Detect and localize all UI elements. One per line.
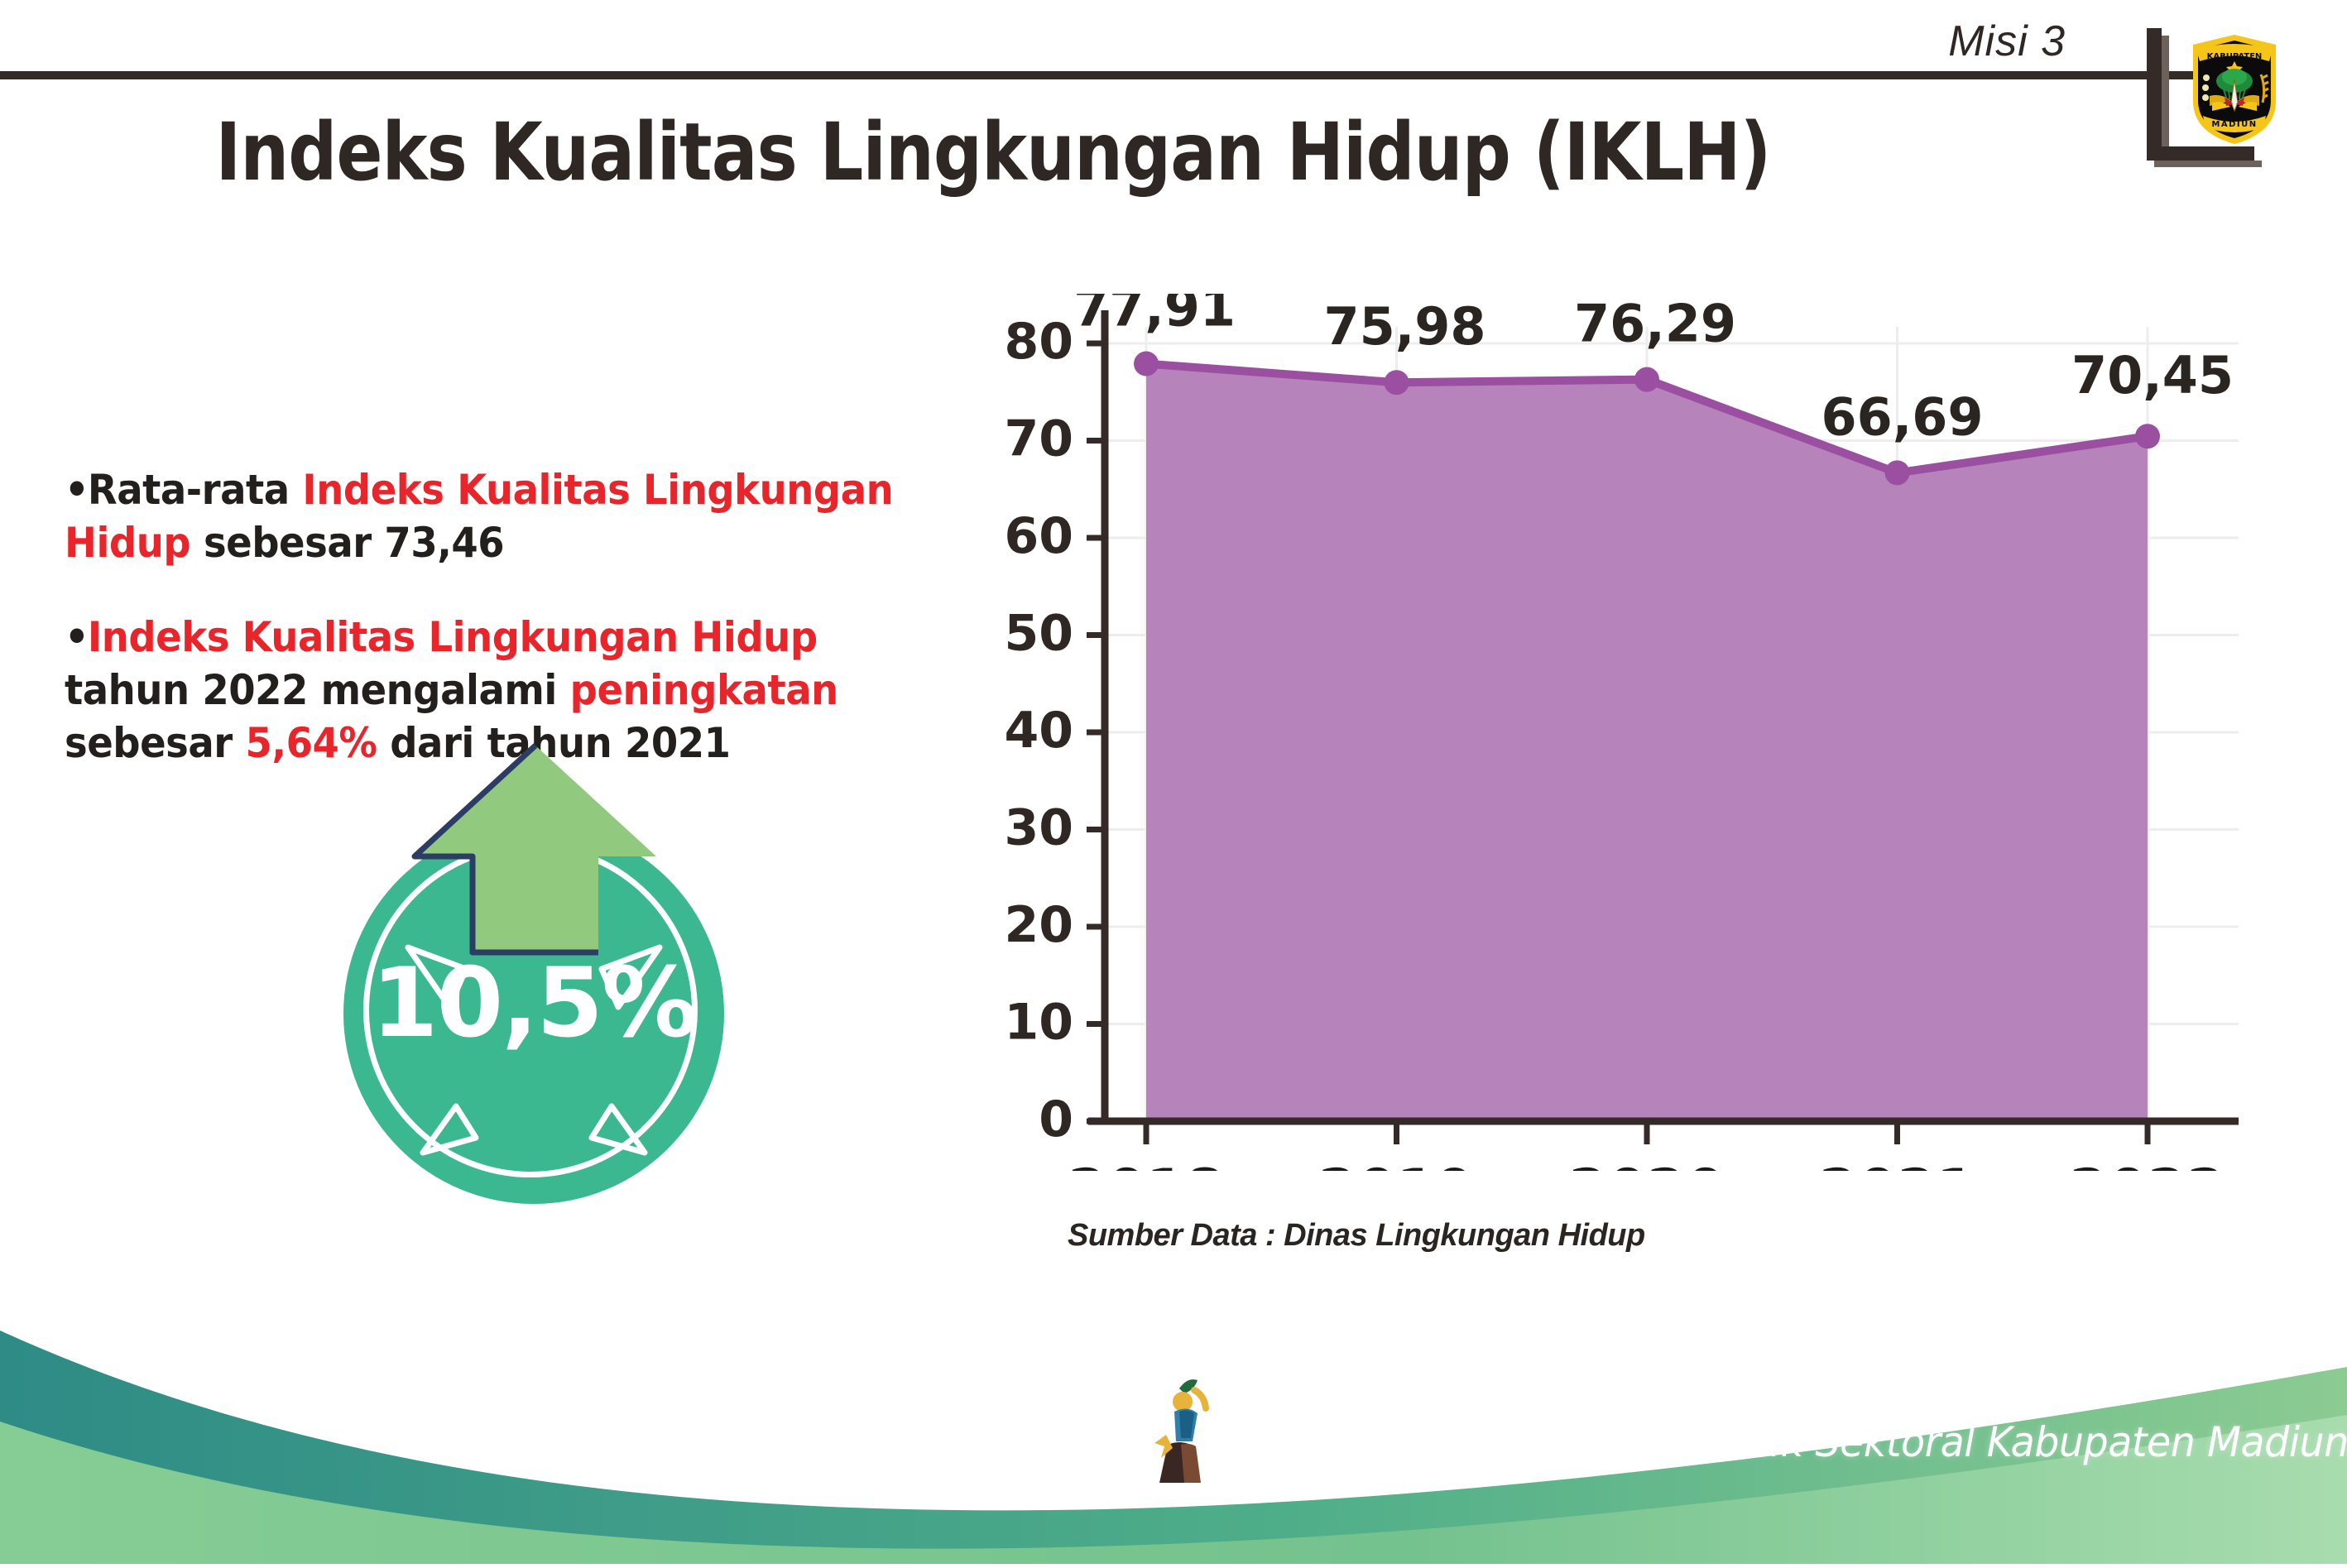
bullet-plain-text: sebesar [65,719,246,767]
svg-text:2021: 2021 [1819,1158,1975,1171]
svg-text:2019: 2019 [1318,1158,1475,1171]
svg-text:10: 10 [1005,994,1074,1052]
svg-text:MADIUN: MADIUN [2211,120,2257,129]
svg-text:0: 0 [1039,1091,1073,1148]
summary-bullets: •Rata-rata Indeks Kualitas Lingkungan Hi… [65,463,991,770]
bullet-plain-text: tahun 2022 mengalami [65,666,570,714]
svg-text:77,91: 77,91 [1073,294,1236,338]
increase-badge: 10,5% [327,798,741,1212]
svg-text:2022: 2022 [2069,1158,2225,1171]
bullet-marker: • [65,466,88,514]
badge-value-text: 10,5% [327,947,741,1059]
footer-caption: Media Infografis Data Statistik Sektoral… [1221,1418,2347,1466]
bullet-plain-text: Rata-rata [88,466,303,514]
bullet-item: •Rata-rata Indeks Kualitas Lingkungan Hi… [65,463,927,569]
bullet-highlight-text: 5,64% [246,719,377,767]
bullet-text: Rata-rata Indeks Kualitas Lingkungan Hid… [65,466,893,567]
svg-text:20: 20 [1005,896,1074,954]
svg-text:30: 30 [1005,799,1074,857]
bracket-vertical-bar [2147,28,2162,161]
header-divider-line [0,71,2218,79]
svg-text:60: 60 [1005,507,1074,565]
bullet-plain-text: sebesar 73,46 [190,519,504,567]
svg-text:70: 70 [1005,410,1074,468]
mission-label: Misi 3 [1948,17,2066,66]
bullet-highlight-text: peningkatan [570,666,838,714]
chart-source-caption: Sumber Data : Dinas Lingkungan Hidup [1068,1218,1645,1254]
svg-text:76,29: 76,29 [1574,294,1736,354]
bullet-highlight-text: Indeks Kualitas Lingkungan Hidup [88,613,818,661]
svg-text:2020: 2020 [1568,1158,1725,1171]
iklh-area-chart: 010203040506070802018201920202021202277,… [972,294,2263,1171]
svg-text:80: 80 [1005,313,1074,371]
svg-text:70,45: 70,45 [2071,345,2234,405]
svg-text:2018: 2018 [1068,1158,1224,1171]
svg-text:75,98: 75,98 [1323,296,1485,357]
bullet-marker: • [65,613,88,661]
svg-text:66,69: 66,69 [1821,386,1983,447]
page-title: Indeks Kualitas Lingkungan Hidup (IKLH) [139,106,1847,199]
bracket-horizontal-bar [2147,146,2254,161]
svg-text:40: 40 [1005,702,1074,760]
svg-text:50: 50 [1005,605,1074,663]
kabupaten-madiun-emblem-icon: KABUPATEN MADIUN [2185,30,2284,147]
svg-text:KABUPATEN: KABUPATEN [2207,52,2263,61]
